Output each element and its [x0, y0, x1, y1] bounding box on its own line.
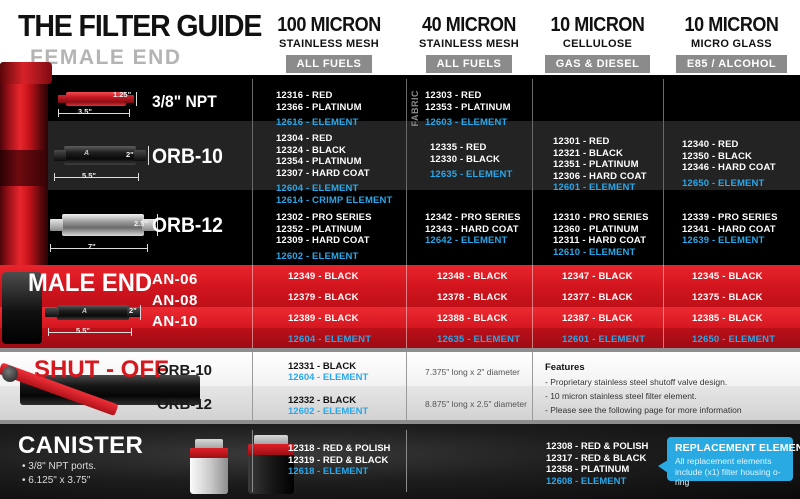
male-element-microglass: 12650 - ELEMENT	[692, 334, 775, 345]
aeromotive-logo: A	[82, 308, 87, 315]
element-part-number: 12608 - ELEMENT	[546, 476, 648, 488]
dimension-line-horizontal	[50, 248, 148, 249]
dimension-line-vertical	[140, 305, 141, 320]
male-column-divider-3	[532, 265, 533, 348]
column-media-label: STAINLESS MESH	[406, 38, 532, 50]
male-part-an10-cellulose: 12387 - BLACK	[562, 313, 633, 324]
dimension-line-horizontal	[48, 332, 132, 333]
male-row-an10	[0, 307, 800, 328]
fitting-label-orb-12: ORB-12	[152, 214, 223, 238]
male-column-divider-2	[406, 265, 407, 348]
canister-column-divider-2	[406, 430, 407, 492]
part-number: 12332 - BLACK	[288, 395, 368, 406]
element-part-number: 12602 - ELEMENT	[276, 251, 372, 263]
part-cell-orb12-40micron: 12342 - PRO SERIES 12343 - HARD COAT 126…	[425, 212, 521, 247]
column-micron-label: 40 MICRON	[412, 14, 525, 37]
dimension-diameter-label: 2.5"	[134, 219, 148, 228]
feature-item: - Proprietary stainless steel shutoff va…	[545, 377, 727, 387]
male-end-heading: MALE END	[28, 269, 152, 298]
part-number: 12309 - HARD COAT	[276, 235, 372, 247]
part-cell-npt-100micron: 12316 - RED 12366 - PLATINUM 12616 - ELE…	[276, 90, 362, 129]
canister-parts-cellulose: 12308 - RED & POLISH 12317 - RED & BLACK…	[546, 441, 648, 487]
fabric-label: FABRIC	[410, 90, 420, 127]
column-micron-label: 100 MICRON	[260, 14, 399, 37]
male-part-an06-40micron: 12348 - BLACK	[437, 271, 508, 282]
page-title: THE FILTER GUIDE	[18, 8, 261, 44]
part-number: 12366 - PLATINUM	[276, 102, 362, 114]
dimension-tick-right	[138, 173, 139, 181]
replacement-elements-line2: include (x1) filter housing o-ring	[675, 467, 787, 488]
dimension-diameter-label: 2"	[129, 306, 137, 315]
page-header: THE FILTER GUIDE FEMALE END 100 MICRON S…	[0, 0, 800, 75]
column-fuel-badge: ALL FUELS	[286, 55, 373, 73]
part-cell-orb12-microglass: 12339 - PRO SERIES 12341 - HARD COAT 126…	[682, 212, 778, 247]
shutoff-dimension-orb12: 8.875" long x 2.5" diameter	[425, 399, 527, 409]
dimension-line-vertical	[148, 146, 149, 165]
dimension-line-horizontal	[54, 177, 139, 178]
male-part-an10-100micron: 12389 - BLACK	[288, 313, 359, 324]
dimension-diameter-label: 2"	[126, 150, 134, 159]
part-number: 12330 - BLACK	[430, 154, 513, 166]
part-number: 12307 - HARD COAT	[276, 168, 392, 180]
part-number: 12335 - RED	[430, 142, 513, 154]
column-header-40-micron: 40 MICRON STAINLESS MESH ALL FUELS	[406, 14, 532, 73]
part-cell-orb12-100micron: 12302 - PRO SERIES 12352 - PLATINUM 1230…	[276, 212, 372, 262]
part-number: 12302 - PRO SERIES	[276, 212, 372, 224]
fitting-label-3-8-npt: 3/8" NPT	[152, 92, 217, 112]
male-part-an08-100micron: 12379 - BLACK	[288, 292, 359, 303]
part-number: 12346 - HARD COAT	[682, 162, 776, 174]
column-divider-3	[532, 79, 533, 265]
part-number: 12303 - RED	[425, 90, 511, 102]
canister-bullet-size: • 6.125" x 3.75"	[22, 475, 90, 486]
dimension-length-label: 5.5"	[82, 171, 96, 180]
dimension-tick-left	[58, 109, 59, 117]
male-row-elements	[0, 328, 800, 348]
part-number: 12360 - PLATINUM	[553, 224, 649, 236]
column-media-label: MICRO GLASS	[663, 38, 800, 50]
male-part-an06-microglass: 12345 - BLACK	[692, 271, 763, 282]
part-number: 12311 - HARD COAT	[553, 235, 649, 247]
male-part-an08-40micron: 12378 - BLACK	[437, 292, 508, 303]
dimension-tick-right	[131, 328, 132, 336]
fitting-label-orb-10: ORB-10	[152, 145, 223, 169]
part-cell-orb10-microglass: 12340 - RED 12350 - BLACK 12346 - HARD C…	[682, 139, 776, 189]
part-number: 12341 - HARD COAT	[682, 224, 778, 236]
part-number: 12304 - RED	[276, 133, 392, 145]
part-cell-npt-40micron: 12303 - RED 12353 - PLATINUM 12603 - ELE…	[425, 90, 511, 129]
part-number: 12318 - RED & POLISH	[288, 443, 390, 455]
part-number: 12316 - RED	[276, 90, 362, 102]
an-size-label-an10: AN-10	[152, 313, 198, 330]
element-part-number: 12610 - ELEMENT	[553, 247, 649, 259]
male-element-100micron: 12604 - ELEMENT	[288, 334, 371, 345]
part-number: 12324 - BLACK	[276, 145, 392, 157]
column-fuel-badge: GAS & DIESEL	[545, 55, 651, 73]
part-number: 12321 - BLACK	[553, 148, 647, 160]
column-divider-2	[406, 79, 407, 265]
part-cell-orb12-cellulose: 12310 - PRO SERIES 12360 - PLATINUM 1231…	[553, 212, 649, 258]
element-part-number: 12603 - ELEMENT	[425, 117, 511, 129]
element-part-number: 12604 - ELEMENT	[276, 183, 392, 195]
part-number: 12319 - RED & BLACK	[288, 455, 390, 467]
part-number: 12354 - PLATINUM	[276, 156, 392, 168]
column-micron-label: 10 MICRON	[539, 14, 657, 37]
element-part-number: 12639 - ELEMENT	[682, 235, 778, 247]
feature-item: - 10 micron stainless steel filter eleme…	[545, 391, 697, 401]
part-cell-orb10-100micron: 12304 - RED 12324 - BLACK 12354 - PLATIN…	[276, 133, 392, 207]
shutoff-fitting-orb12: ORB-12	[157, 396, 212, 413]
canister-heading: CANISTER	[18, 432, 143, 460]
dimension-tick-left	[54, 173, 55, 181]
female-row-band-orb10	[0, 121, 800, 190]
dimension-diameter-label: 1.25"	[113, 90, 131, 99]
dimension-line-vertical	[136, 92, 137, 106]
replacement-elements-title: REPLACEMENT ELEMENTS	[675, 442, 787, 454]
shutoff-column-divider-3	[532, 352, 533, 420]
column-fuel-badge: E85 / ALCOHOL	[676, 55, 787, 73]
filter-guide-page: THE FILTER GUIDE FEMALE END 100 MICRON S…	[0, 0, 800, 499]
part-number: 12301 - RED	[553, 136, 647, 148]
element-part-number: 12635 - ELEMENT	[430, 169, 513, 181]
element-part-number: 12650 - ELEMENT	[682, 178, 776, 190]
part-number: 12352 - PLATINUM	[276, 224, 372, 236]
element-part-number: 12616 - ELEMENT	[276, 117, 362, 129]
shutoff-dimension-orb10: 7.375" long x 2" diameter	[425, 367, 520, 377]
element-part-number: 12601 - ELEMENT	[553, 182, 647, 194]
male-part-an06-100micron: 12349 - BLACK	[288, 271, 359, 282]
male-column-divider-1	[252, 265, 253, 348]
dimension-length-label: 5.5"	[76, 326, 90, 335]
part-number: 12343 - HARD COAT	[425, 224, 521, 236]
part-number: 12339 - PRO SERIES	[682, 212, 778, 224]
element-part-number: 12604 - ELEMENT	[288, 372, 368, 383]
replacement-elements-callout: REPLACEMENT ELEMENTS All replacement ele…	[667, 437, 793, 481]
dimension-tick-left	[50, 244, 51, 252]
male-part-an10-microglass: 12385 - BLACK	[692, 313, 763, 324]
column-header-100-micron: 100 MICRON STAINLESS MESH ALL FUELS	[252, 14, 406, 73]
shutoff-heading: SHUT - OFF	[34, 356, 169, 384]
part-number: 12308 - RED & POLISH	[546, 441, 648, 453]
part-number: 12358 - PLATINUM	[546, 464, 648, 476]
column-divider-1	[252, 79, 253, 265]
male-element-cellulose: 12601 - ELEMENT	[562, 334, 645, 345]
dimension-length-label: 7"	[88, 242, 96, 251]
element-part-number: 12614 - CRIMP ELEMENT	[276, 195, 392, 207]
dimension-line-horizontal	[58, 113, 130, 114]
an-size-label-an06: AN-06	[152, 271, 198, 288]
female-end-heading: FEMALE END	[30, 46, 182, 70]
column-fuel-badge: ALL FUELS	[426, 55, 513, 73]
part-number: 12350 - BLACK	[682, 151, 776, 163]
shutoff-part-orb12: 12332 - BLACK 12602 - ELEMENT	[288, 395, 368, 417]
column-media-label: STAINLESS MESH	[252, 38, 406, 50]
dimension-tick-right	[129, 109, 130, 117]
part-number: 12340 - RED	[682, 139, 776, 151]
aeromotive-logo: A	[84, 150, 89, 157]
dimension-tick-right	[147, 244, 148, 252]
dimension-length-label: 3.5"	[78, 107, 92, 116]
column-divider-4	[663, 79, 664, 265]
shutoff-column-divider-2	[406, 352, 407, 420]
part-number: 12306 - HARD COAT	[553, 171, 647, 183]
part-number: 12342 - PRO SERIES	[425, 212, 521, 224]
canister-parts-mesh: 12318 - RED & POLISH 12319 - RED & BLACK…	[288, 443, 390, 478]
part-cell-orb10-40micron: 12335 - RED 12330 - BLACK 12635 - ELEMEN…	[430, 142, 513, 181]
element-part-number: 12602 - ELEMENT	[288, 406, 368, 417]
element-part-number: 12618 - ELEMENT	[288, 466, 390, 478]
part-number: 12353 - PLATINUM	[425, 102, 511, 114]
dimension-tick-left	[48, 328, 49, 336]
column-media-label: CELLULOSE	[532, 38, 663, 50]
shutoff-part-orb10: 12331 - BLACK 12604 - ELEMENT	[288, 361, 368, 383]
shutoff-fitting-orb10: ORB-10	[157, 362, 212, 379]
canister-column-divider-1	[252, 430, 253, 492]
male-part-an08-cellulose: 12377 - BLACK	[562, 292, 633, 303]
male-column-divider-4	[663, 265, 664, 348]
part-number: 12351 - PLATINUM	[553, 159, 647, 171]
column-header-10-micron-cellulose: 10 MICRON CELLULOSE GAS & DIESEL	[532, 14, 663, 73]
part-number: 12331 - BLACK	[288, 361, 368, 372]
feature-item: - Please see the following page for more…	[545, 405, 742, 415]
part-number: 12317 - RED & BLACK	[546, 453, 648, 465]
canister-bullet-ports: • 3/8" NPT ports.	[22, 461, 96, 472]
part-cell-orb10-cellulose: 12301 - RED 12321 - BLACK 12351 - PLATIN…	[553, 136, 647, 194]
part-number: 12310 - PRO SERIES	[553, 212, 649, 224]
element-part-number: 12642 - ELEMENT	[425, 235, 521, 247]
male-part-an08-microglass: 12375 - BLACK	[692, 292, 763, 303]
male-element-40micron: 12635 - ELEMENT	[437, 334, 520, 345]
replacement-elements-line1: All replacement elements	[675, 456, 787, 467]
male-part-an06-cellulose: 12347 - BLACK	[562, 271, 633, 282]
shutoff-column-divider-1	[252, 352, 253, 420]
an-size-label-an08: AN-08	[152, 292, 198, 309]
column-header-10-micron-micro-glass: 10 MICRON MICRO GLASS E85 / ALCOHOL	[663, 14, 800, 73]
features-heading: Features	[545, 362, 585, 373]
male-part-an10-40micron: 12388 - BLACK	[437, 313, 508, 324]
column-micron-label: 10 MICRON	[670, 14, 793, 37]
